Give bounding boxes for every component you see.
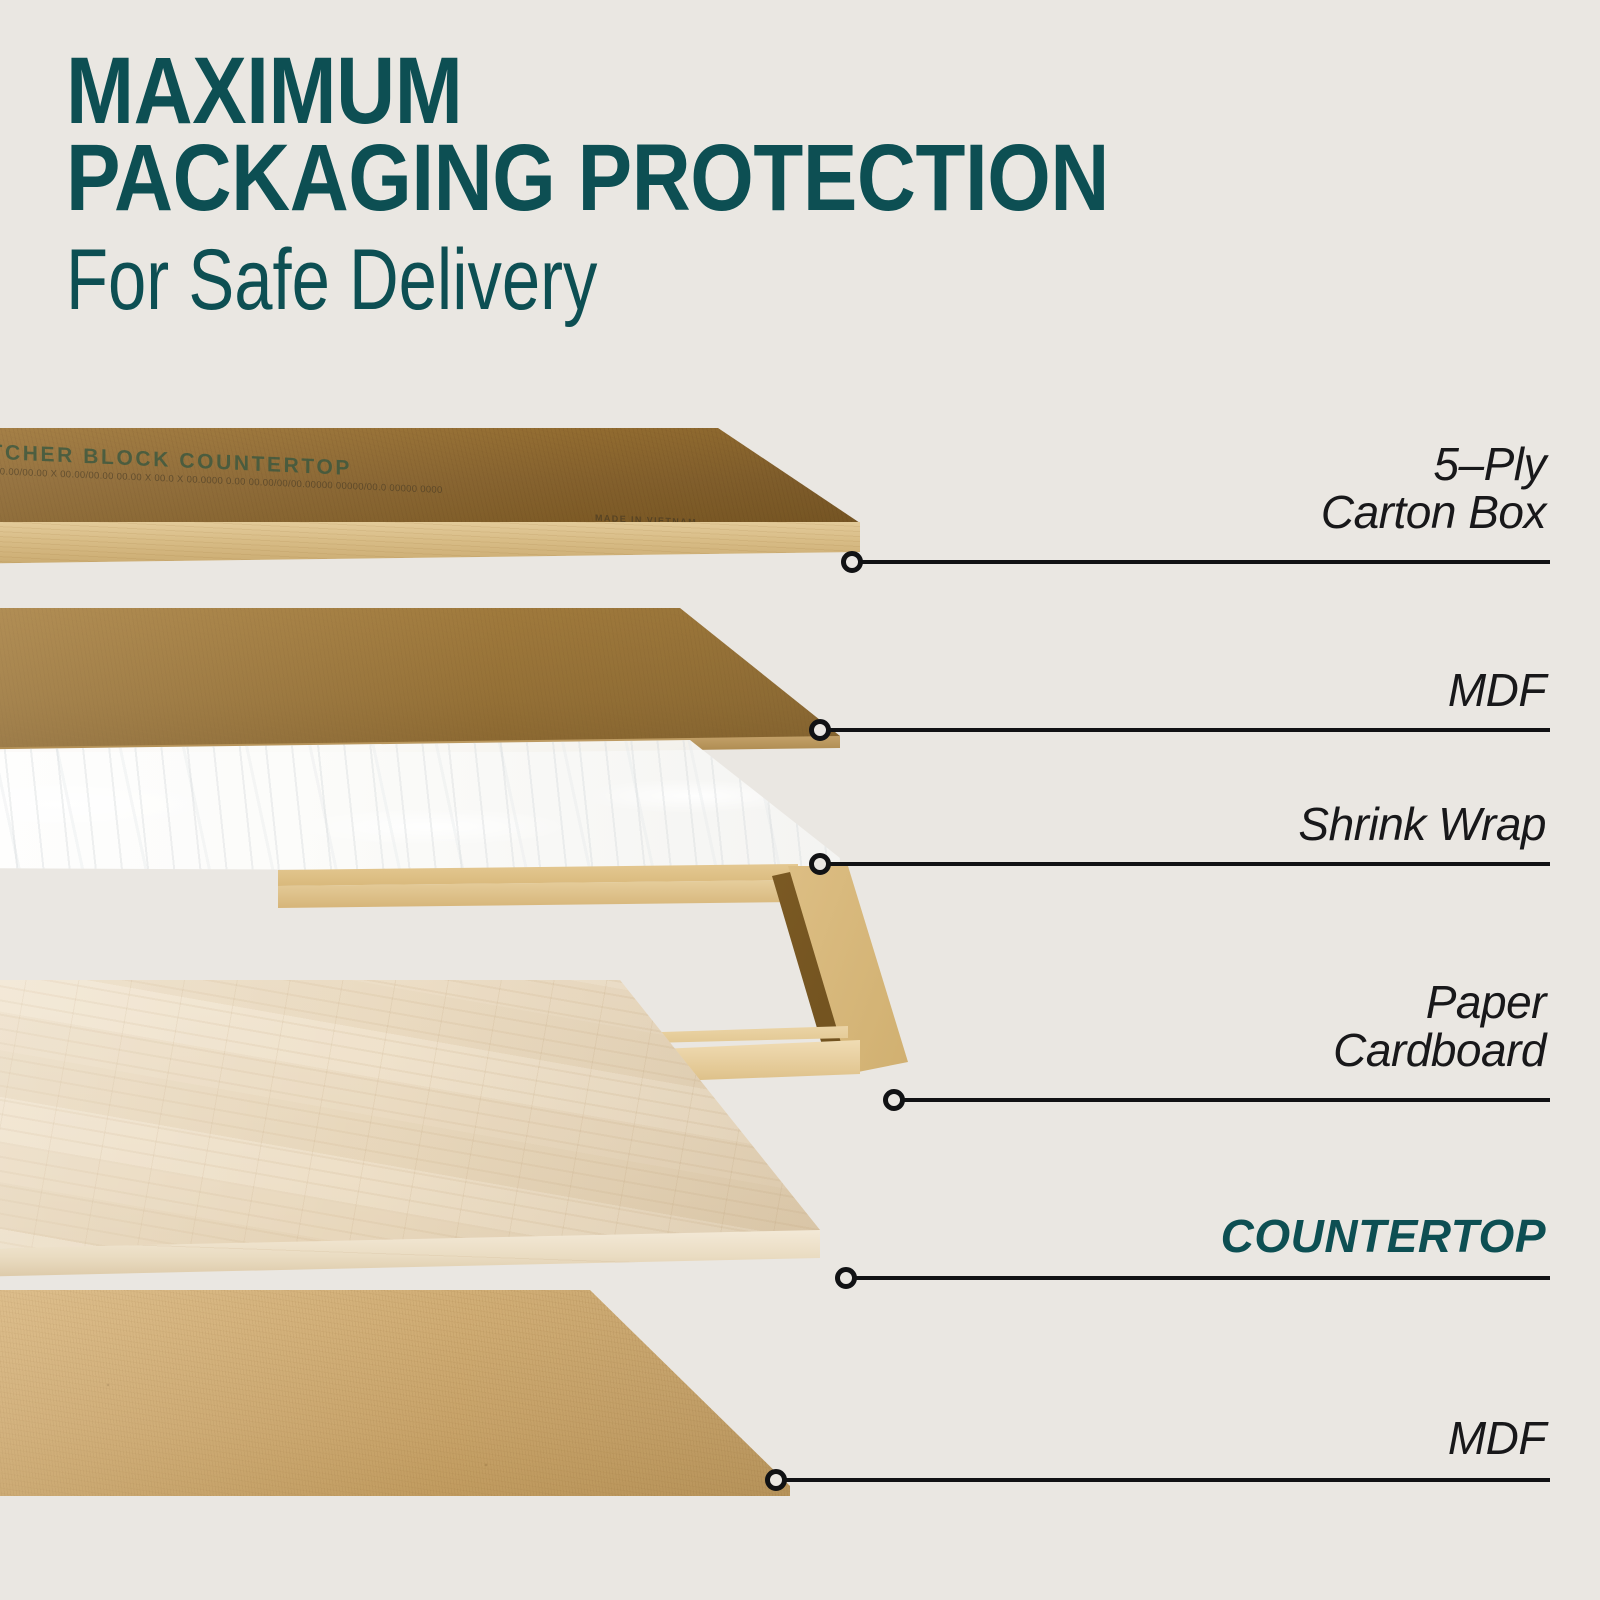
callout-mdf-top: MDF [350,666,1550,714]
callout-shrink-wrap: Shrink Wrap [350,800,1550,848]
callout-label-paper-cardboard: Paper Cardboard [350,978,1550,1075]
leader-line-carton-box [860,560,1550,564]
leader-line-countertop [854,1276,1550,1280]
infographic-canvas: MAXIMUM PACKAGING PROTECTION For Safe De… [0,0,1600,1600]
leader-dot-mdf-bottom [765,1469,787,1491]
leader-line-paper-cardboard [902,1098,1550,1102]
leader-line-shrink-wrap [828,862,1550,866]
callout-label-mdf-bottom: MDF [350,1414,1550,1462]
callout-label-countertop: COUNTERTOP [350,1212,1550,1260]
leader-dot-shrink-wrap [809,853,831,875]
callout-countertop: COUNTERTOP [350,1212,1550,1260]
callout-label-shrink-wrap: Shrink Wrap [350,800,1550,848]
callout-mdf-bottom: MDF [350,1414,1550,1462]
callout-carton-box: 5–Ply Carton Box [350,440,1550,537]
leader-dot-countertop [835,1267,857,1289]
heading-subtitle: For Safe Delivery [66,237,1106,323]
leader-dot-carton-box [841,551,863,573]
callout-label-carton-box: 5–Ply Carton Box [350,440,1550,537]
callout-label-mdf-top: MDF [350,666,1550,714]
leader-dot-paper-cardboard [883,1089,905,1111]
heading-block: MAXIMUM PACKAGING PROTECTION For Safe De… [66,48,1366,323]
callout-paper-cardboard: Paper Cardboard [350,978,1550,1075]
leader-dot-mdf-top [809,719,831,741]
leader-line-mdf-top [828,728,1550,732]
heading-line-1: MAXIMUM [66,48,1184,135]
heading-line-2: PACKAGING PROTECTION [66,135,1184,222]
leader-line-mdf-bottom [784,1478,1550,1482]
